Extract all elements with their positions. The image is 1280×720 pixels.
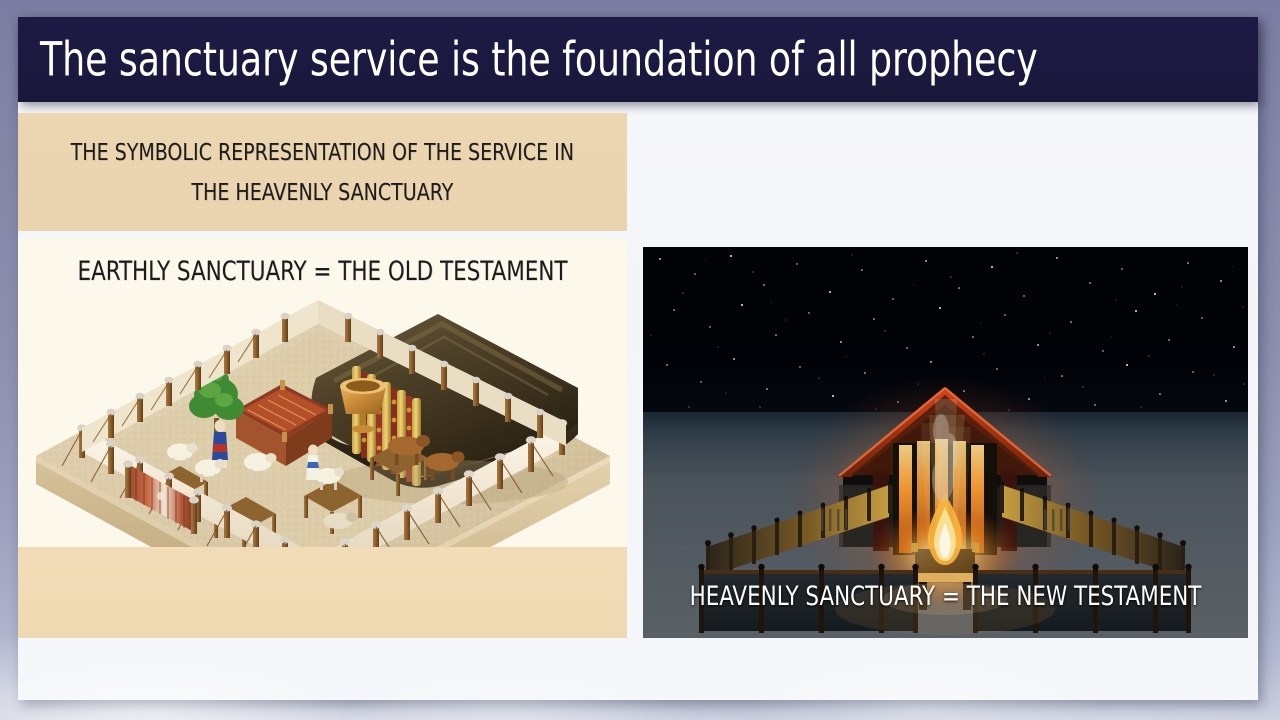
title-banner: The sanctuary service is the foundation … bbox=[18, 17, 1258, 102]
page-title: The sanctuary service is the foundation … bbox=[40, 32, 1038, 87]
heavenly-sanctuary-panel: HEAVENLY SANCTUARY = THE NEW TESTAMENT bbox=[643, 247, 1248, 638]
earthly-caption-band bbox=[18, 547, 627, 638]
earthly-caption-text: EARTHLY SANCTUARY = THE OLD TESTAMENT bbox=[48, 256, 596, 287]
earthly-sanctuary-panel: EARTHLY SANCTUARY = THE OLD TESTAMENT bbox=[18, 238, 627, 638]
slide-root: The sanctuary service is the foundation … bbox=[0, 0, 1280, 720]
subtitle-text: THE SYMBOLIC REPRESENTATION OF THE SERVI… bbox=[59, 132, 585, 213]
subtitle-box: THE SYMBOLIC REPRESENTATION OF THE SERVI… bbox=[18, 113, 627, 231]
heavenly-sanctuary-render-image bbox=[643, 247, 1248, 638]
heavenly-caption-text: HEAVENLY SANCTUARY = THE NEW TESTAMENT bbox=[673, 581, 1218, 612]
